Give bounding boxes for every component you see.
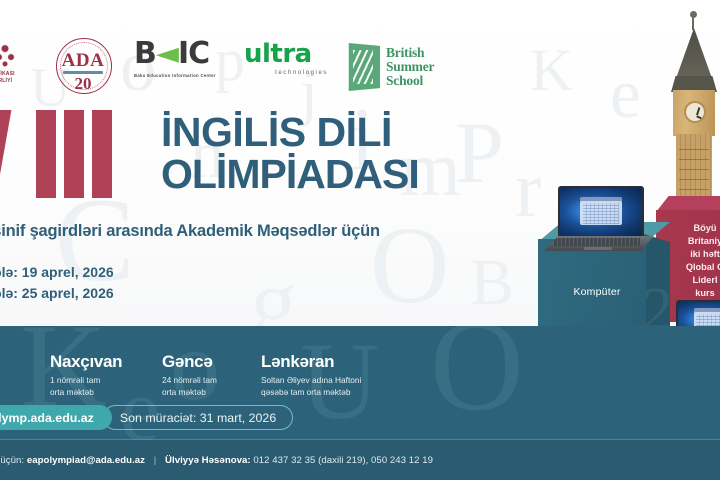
venue-1-desc-line1: 1 nömrəli tam bbox=[50, 374, 162, 386]
big-ben-roof bbox=[674, 28, 714, 84]
venue-item-0: rsiteti bbox=[0, 352, 50, 386]
bss-wordmark: British Summer School bbox=[386, 46, 434, 87]
venue-2-name: Gəncə bbox=[162, 352, 261, 372]
venue-3-desc: Soltan Əliyev adına Haftoni qəsəbə tam o… bbox=[261, 374, 461, 398]
big-ben-spire bbox=[692, 14, 694, 30]
footer-contact-bar: lumat üçün: eapolympiad@ada.edu.az | Ülv… bbox=[0, 440, 720, 480]
laptop-primary-display bbox=[560, 188, 642, 236]
footer-separator: | bbox=[148, 455, 163, 466]
stage-date-2: ərhələ: 25 aprel, 2026 bbox=[0, 283, 114, 304]
numeral-stroke-i3 bbox=[92, 110, 112, 198]
venue-2-desc-line2: orta məktəb bbox=[162, 386, 261, 398]
registration-url-pill[interactable]: at: olymp.ada.edu.az bbox=[0, 405, 112, 430]
deadline-pill: Son müraciət: 31 mart, 2026 bbox=[103, 405, 293, 430]
ultra-subtitle: technologies bbox=[244, 70, 328, 76]
ultra-technologies-logo: ultra technologies bbox=[244, 41, 328, 93]
laptop-primary-touchpad bbox=[584, 247, 613, 250]
numeral-stroke-i2 bbox=[64, 110, 84, 198]
bss-line3: School bbox=[386, 74, 434, 88]
action-pill-row: Son müraciət: 31 mart, 2026 at: olymp.ad… bbox=[0, 405, 293, 430]
beic-subtitle: Baku Education Information Center bbox=[134, 73, 226, 78]
british-summer-school-logo: British Summer School bbox=[346, 39, 456, 95]
title-line-1: İNGİLİS DİLİ bbox=[161, 112, 419, 154]
laptop-primary-base bbox=[544, 236, 654, 251]
footer-contact-text: lumat üçün: eapolympiad@ada.edu.az | Ülv… bbox=[0, 455, 433, 466]
roman-numeral-eight bbox=[0, 110, 112, 198]
numeral-stroke-v bbox=[0, 110, 28, 198]
footer-prefix: lumat üçün: bbox=[0, 455, 24, 466]
partner-logo-strip: PUBLİKASI NAZİRLİYİ ADA 20 B◄IC Baku Edu… bbox=[0, 34, 416, 100]
numeral-stroke-i1 bbox=[36, 110, 56, 198]
venue-3-name: Lənkəran bbox=[261, 352, 461, 372]
beic-logo: B◄IC Baku Education Information Center bbox=[134, 39, 226, 95]
stage-date-1: ərhələ: 19 aprel, 2026 bbox=[0, 262, 114, 283]
venues-teal-section: K o U O e rsiteti Naxçıvan 1 nömrəli tam… bbox=[0, 326, 720, 440]
venue-item-naxcivan: Naxçıvan 1 nömrəli tam orta məktəb bbox=[50, 352, 162, 398]
gov-emblem-line1: PUBLİKASI bbox=[0, 71, 32, 78]
page-title: İNGİLİS DİLİ OLİMPİADASI bbox=[161, 112, 419, 196]
laptop-primary-screen bbox=[558, 186, 644, 238]
gov-emblem-logo: PUBLİKASI NAZİRLİYİ bbox=[0, 35, 32, 99]
poster-canvas: C n g i m P r s O j o p B U e K PUBLİKAS… bbox=[0, 0, 720, 480]
bss-line1: British bbox=[386, 46, 434, 60]
bss-line2: Summer bbox=[386, 60, 434, 74]
laptop-primary-keyboard bbox=[554, 238, 640, 246]
venue-3-desc-line1: Soltan Əliyev adına Haftoni bbox=[261, 374, 461, 386]
venue-2-desc-line1: 24 nömrəli tam bbox=[162, 374, 261, 386]
footer-contact-name: Ülviyyə Həsənova: bbox=[165, 455, 251, 466]
venue-item-gence: Gəncə 24 nömrəli tam orta məktəb bbox=[162, 352, 261, 398]
big-ben-clock-housing bbox=[673, 90, 715, 136]
footer-email[interactable]: eapolympiad@ada.edu.az bbox=[27, 455, 145, 466]
footer-phones: 012 437 32 35 (daxili 219), 050 243 12 1… bbox=[253, 455, 433, 466]
big-ben-tower-icon bbox=[668, 14, 720, 214]
beic-wordmark: B◄IC bbox=[134, 39, 226, 69]
venue-1-name: Naxçıvan bbox=[50, 352, 162, 372]
venue-item-lenkeran: Lənkəran Soltan Əliyev adına Haftoni qəs… bbox=[261, 352, 461, 398]
title-line-2: OLİMPİADASI bbox=[161, 154, 419, 196]
subtitle: u sinif şagirdləri arasında Akademik Məq… bbox=[0, 222, 380, 241]
venue-0-desc: rsiteti bbox=[0, 374, 50, 386]
ada-wordmark: ADA bbox=[50, 50, 116, 72]
venue-1-desc: 1 nömrəli tam orta məktəb bbox=[50, 374, 162, 398]
gov-emblem-line2: NAZİRLİYİ bbox=[0, 78, 32, 85]
stage-dates-list: ərhələ: 19 aprel, 2026 ərhələ: 25 aprel,… bbox=[0, 262, 114, 304]
venue-list: rsiteti Naxçıvan 1 nömrəli tam orta məkt… bbox=[0, 352, 461, 398]
gov-emblem-icon bbox=[0, 35, 20, 69]
bss-emblem-icon bbox=[346, 43, 380, 91]
venue-3-desc-line2: qəsəbə tam orta məktəb bbox=[261, 386, 461, 398]
venue-1-desc-line2: orta məktəb bbox=[50, 386, 162, 398]
venue-2-desc: 24 nömrəli tam orta məktəb bbox=[162, 374, 261, 398]
clock-face-icon bbox=[684, 101, 706, 123]
ada-anniversary-number: 20 bbox=[50, 74, 116, 94]
prize-label-computer-1: Kompüter bbox=[554, 286, 640, 298]
laptop-primary bbox=[544, 186, 654, 264]
ada-university-logo: ADA 20 bbox=[50, 36, 116, 98]
ultra-wordmark: ultra bbox=[244, 41, 328, 67]
